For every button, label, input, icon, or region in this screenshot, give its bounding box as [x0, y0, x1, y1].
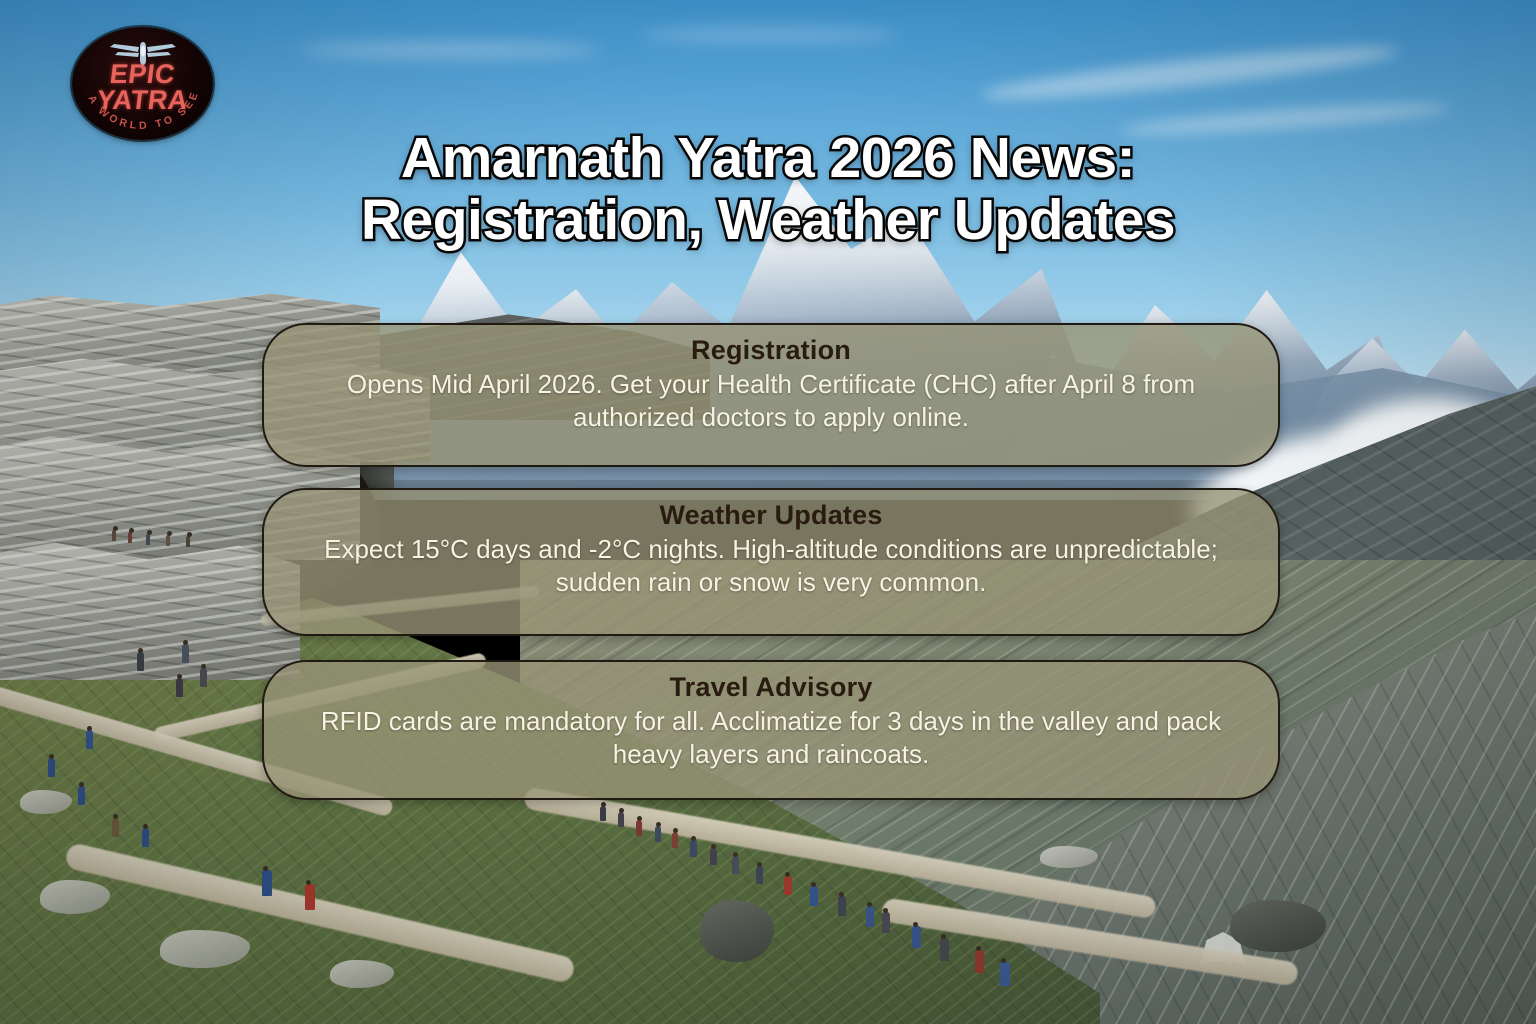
title-line-1: Amarnath Yatra 2026 News: — [0, 128, 1536, 190]
logo-line-1: EPIC — [72, 61, 213, 87]
logo-line-2: YATRA — [72, 87, 213, 113]
card-body: Expect 15°C days and -2°C nights. High-a… — [290, 533, 1252, 600]
card-body: RFID cards are mandatory for all. Acclim… — [290, 705, 1252, 772]
epic-yatra-logo[interactable]: A WORLD TO SEE EPIC YATRA — [72, 27, 213, 140]
logo-wordmark: EPIC YATRA — [72, 61, 213, 114]
page-title: Amarnath Yatra 2026 News: Registration, … — [0, 128, 1536, 251]
title-line-2: Registration, Weather Updates — [0, 190, 1536, 252]
infographic-poster: A WORLD TO SEE EPIC YATRA Amarnath Yatra… — [0, 0, 1536, 1024]
card-heading: Weather Updates — [290, 500, 1252, 531]
card-body: Opens Mid April 2026. Get your Health Ce… — [290, 368, 1252, 435]
info-card-registration[interactable]: Registration Opens Mid April 2026. Get y… — [262, 323, 1280, 467]
info-card-weather-updates[interactable]: Weather Updates Expect 15°C days and -2°… — [262, 488, 1280, 636]
card-heading: Registration — [290, 335, 1252, 366]
card-heading: Travel Advisory — [290, 672, 1252, 703]
info-card-travel-advisory[interactable]: Travel Advisory RFID cards are mandatory… — [262, 660, 1280, 800]
